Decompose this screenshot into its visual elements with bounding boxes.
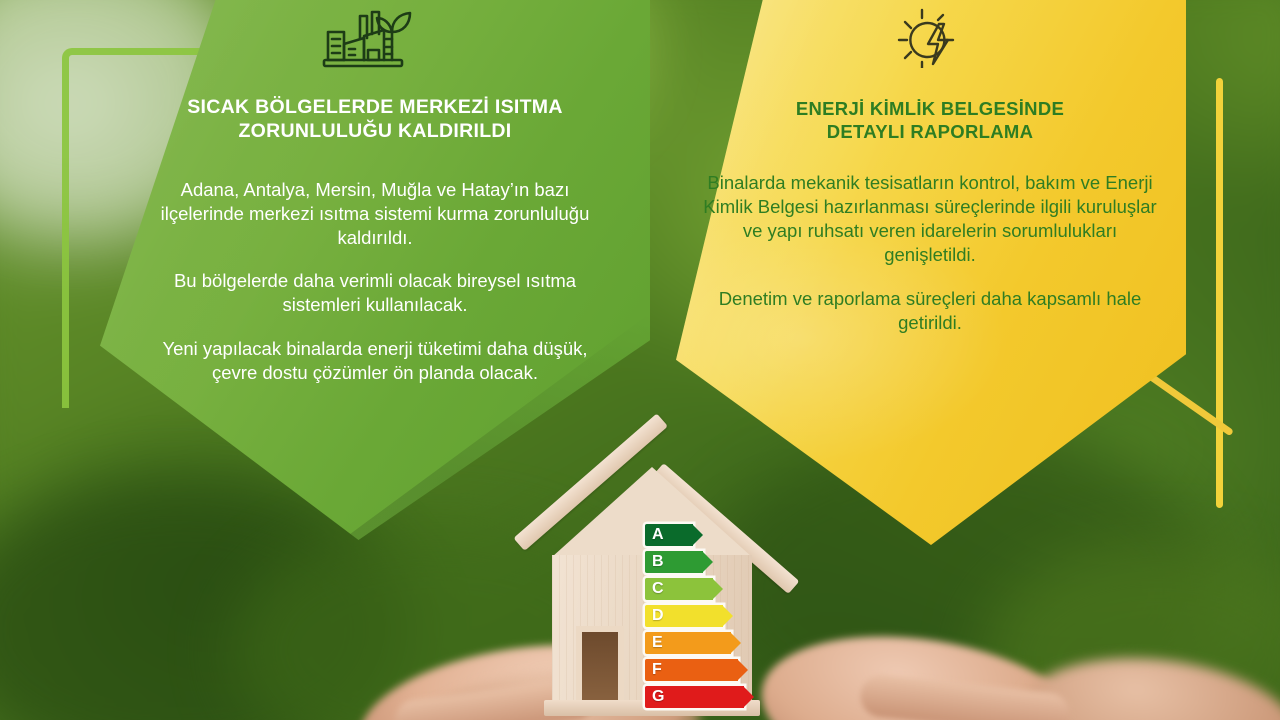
green-card-content: SICAK BÖLGELERDE MERKEZİ ISITMA ZORUNLUL… [140, 0, 610, 385]
energy-rating-row: A [645, 524, 753, 546]
house-door [576, 626, 624, 706]
yellow-frame-vertical [1216, 78, 1223, 508]
energy-rating-row: B [645, 551, 753, 573]
energy-rating-letter: C [652, 578, 664, 600]
energy-rating-letter: E [652, 632, 663, 654]
energy-rating-label: ABCDEFG [645, 524, 753, 708]
yellow-frame-outline [1216, 78, 1230, 548]
energy-rating-row: C [645, 578, 753, 600]
yellow-card-paragraph: Denetim ve raporlama süreçleri daha kaps… [700, 287, 1160, 335]
energy-rating-letter: F [652, 659, 662, 681]
energy-rating-letter: B [652, 551, 664, 573]
yellow-card-body: Binalarda mekanik tesisatların kontrol, … [700, 171, 1160, 335]
energy-rating-row: E [645, 632, 753, 654]
energy-rating-row: F [645, 659, 753, 681]
energy-rating-letter: G [652, 686, 664, 708]
green-card-paragraph: Bu bölgelerde daha verimli olacak bireys… [140, 269, 610, 317]
green-card-body: Adana, Antalya, Mersin, Muğla ve Hatay’ı… [140, 178, 610, 385]
energy-rating-row: D [645, 605, 753, 627]
green-card-paragraph: Yeni yapılacak binalarda enerji tüketimi… [140, 337, 610, 385]
yellow-card-paragraph: Binalarda mekanik tesisatların kontrol, … [700, 171, 1160, 267]
energy-rating-row: G [645, 686, 753, 708]
green-card-paragraph: Adana, Antalya, Mersin, Muğla ve Hatay’ı… [140, 178, 610, 250]
yellow-card-title: ENERJİ KİMLİK BELGESİNDE DETAYLI RAPORLA… [700, 98, 1160, 143]
energy-rating-letter: A [652, 524, 664, 546]
energy-rating-letter: D [652, 605, 664, 627]
green-card-title: SICAK BÖLGELERDE MERKEZİ ISITMA ZORUNLUL… [140, 96, 610, 144]
yellow-card-content: ENERJİ KİMLİK BELGESİNDE DETAYLI RAPORLA… [700, 0, 1160, 335]
